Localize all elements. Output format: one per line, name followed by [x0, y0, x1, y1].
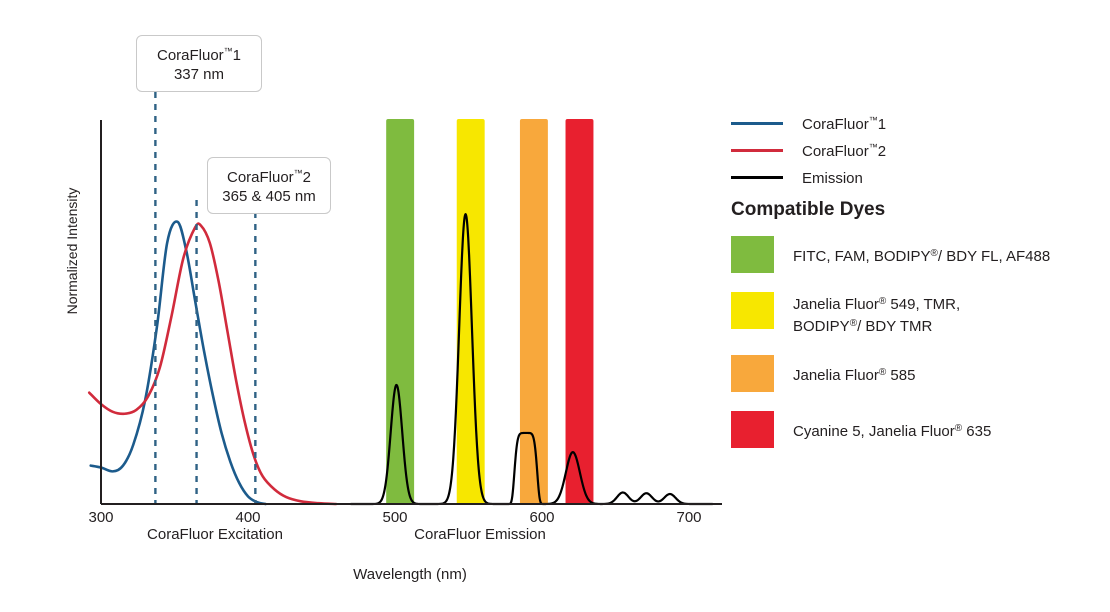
x-tick-label-300: 300 — [88, 509, 113, 526]
x-tick-label-700: 700 — [676, 509, 701, 526]
callout-corafluor1: CoraFluor™1 337 nm — [136, 35, 262, 92]
dye-label: FITC, FAM, BODIPY®/ BDY FL, AF488 — [793, 236, 1050, 266]
chart-page: 300400500600700 CoraFluor™1 337 nm CoraF… — [0, 0, 1110, 612]
callout-cf2-line2: 365 & 405 nm — [218, 187, 320, 206]
legend-item-corafluor2: CoraFluor™2 — [731, 137, 1101, 164]
dye-label: Janelia Fluor® 549, TMR, BODIPY®/ BDY TM… — [793, 292, 960, 336]
dye-item: Cyanine 5, Janelia Fluor® 635 — [731, 411, 1106, 448]
dye-label: Cyanine 5, Janelia Fluor® 635 — [793, 411, 991, 441]
legend-item-label: CoraFluor™2 — [802, 142, 886, 160]
callout-corafluor2: CoraFluor™2 365 & 405 nm — [207, 157, 331, 214]
x-tick-label-600: 600 — [529, 509, 554, 526]
red-band — [566, 119, 594, 505]
dye-color-swatch — [731, 355, 774, 392]
legend-line-swatch — [731, 122, 783, 125]
callout-cf1-line2: 337 nm — [147, 65, 251, 84]
orange-band — [520, 119, 548, 505]
dye-item: FITC, FAM, BODIPY®/ BDY FL, AF488 — [731, 236, 1106, 273]
dye-item: Janelia Fluor® 549, TMR, BODIPY®/ BDY TM… — [731, 292, 1106, 336]
dye-label: Janelia Fluor® 585 — [793, 355, 915, 385]
x-tick-label-500: 500 — [382, 509, 407, 526]
legend-item-corafluor1: CoraFluor™1 — [731, 110, 1101, 137]
dye-color-swatch — [731, 292, 774, 329]
curve-excitation-1c5b8c — [91, 222, 266, 504]
callout-cf2-line1: CoraFluor™2 — [218, 164, 320, 187]
x-axis-region-label-emission: CoraFluor Emission — [385, 526, 575, 543]
series-legend: CoraFluor™1CoraFluor™2Emission — [731, 110, 1101, 191]
compatible-dyes-heading: Compatible Dyes — [731, 199, 885, 221]
x-axis-region-label-excitation: CoraFluor Excitation — [120, 526, 310, 543]
legend-line-swatch — [731, 176, 783, 179]
legend-item-emission: Emission — [731, 164, 1101, 191]
legend-line-swatch — [731, 149, 783, 152]
dye-color-swatch — [731, 236, 774, 273]
x-tick-label-400: 400 — [235, 509, 260, 526]
legend-item-label: CoraFluor™1 — [802, 115, 886, 133]
dye-color-swatch — [731, 411, 774, 448]
compatible-dyes-list: FITC, FAM, BODIPY®/ BDY FL, AF488Janelia… — [731, 236, 1106, 467]
callout-cf1-line1: CoraFluor™1 — [147, 42, 251, 65]
dye-item: Janelia Fluor® 585 — [731, 355, 1106, 392]
y-axis-label: Normalized Intensity — [64, 171, 80, 331]
legend-item-label: Emission — [802, 169, 863, 187]
x-axis-title: Wavelength (nm) — [280, 566, 540, 583]
